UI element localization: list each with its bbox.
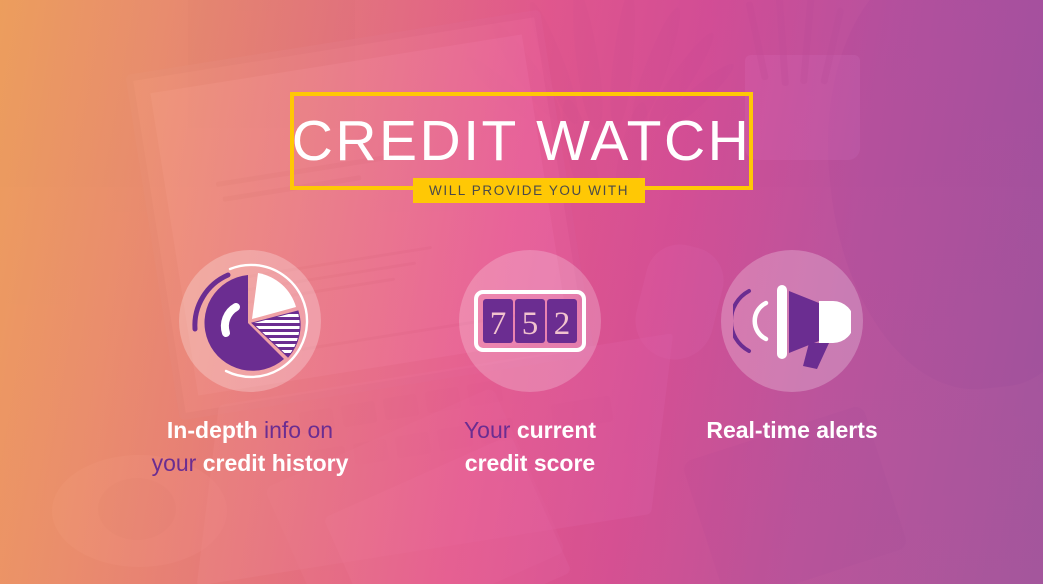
- feature-item-credit-history[interactable]: In-depth info on your credit history: [110, 250, 390, 481]
- page-title: CREDIT WATCH: [290, 92, 753, 190]
- feature-caption-line-1: In-depth info on: [110, 414, 390, 447]
- score-digit-3: 2: [554, 306, 571, 342]
- caption-strong: In-depth: [167, 417, 258, 443]
- caption-strong: credit score: [465, 450, 595, 476]
- feature-icon-badge: 7 5 2: [459, 250, 601, 392]
- pie-chart-icon: [186, 257, 314, 385]
- megaphone-icon: [733, 269, 851, 373]
- score-digit-2: 5: [522, 306, 539, 342]
- feature-list: In-depth info on your credit history 7: [0, 250, 1043, 490]
- caption-strong: credit history: [203, 450, 349, 476]
- caption-soft: Your: [464, 417, 517, 443]
- feature-caption-line-2: credit score: [390, 447, 670, 480]
- caption-soft: info on: [258, 417, 333, 443]
- feature-caption-line-1: Your current: [390, 414, 670, 447]
- feature-icon-badge: [179, 250, 321, 392]
- feature-caption-line-1: Real-time alerts: [652, 414, 932, 447]
- caption-strong: current: [517, 417, 596, 443]
- caption-soft: your: [152, 450, 203, 476]
- feature-caption: In-depth info on your credit history: [110, 414, 390, 481]
- caption-strong: Real-time alerts: [706, 417, 877, 443]
- feature-icon-badge: [721, 250, 863, 392]
- feature-caption: Real-time alerts: [652, 414, 932, 447]
- feature-item-credit-score[interactable]: 7 5 2 Your current credit score: [390, 250, 670, 481]
- feature-caption: Your current credit score: [390, 414, 670, 481]
- feature-caption-line-2: your credit history: [110, 447, 390, 480]
- credit-score-digits-icon: 7 5 2: [474, 284, 586, 358]
- subtitle-banner: WILL PROVIDE YOU WITH: [413, 178, 645, 203]
- feature-item-alerts[interactable]: Real-time alerts: [652, 250, 932, 447]
- score-digit-1: 7: [490, 306, 507, 342]
- slide-canvas: CREDIT WATCH WILL PROVIDE YOU WITH: [0, 0, 1043, 584]
